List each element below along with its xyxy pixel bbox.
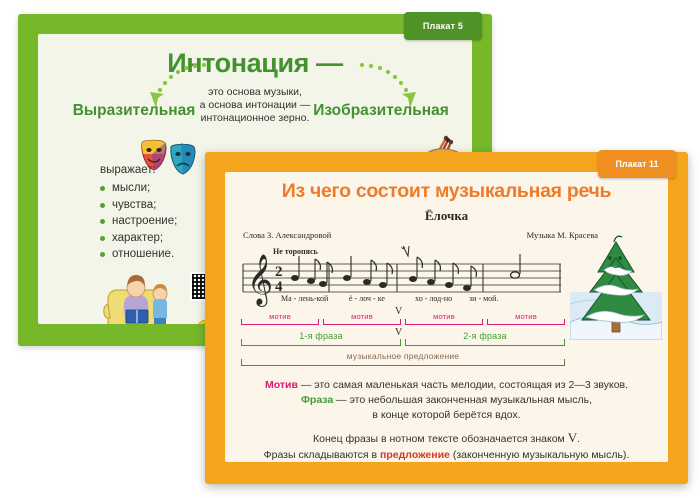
song-title: Ёлочка <box>225 208 668 224</box>
lyric-syllable: зи - мой. <box>469 294 498 303</box>
note-breath-sign: Конец фразы в нотном тексте обозначается… <box>225 430 668 447</box>
svg-text:2: 2 <box>275 264 283 280</box>
breath-mark-icon: V <box>395 306 402 317</box>
note-sentence-a: Фразы складываются в <box>264 449 380 461</box>
lyric-syllable: Ма - лень-кой <box>281 294 328 303</box>
lyric-syllable: ё - лоч - ке <box>349 294 385 303</box>
breath-mark-icon: V <box>568 430 577 445</box>
poster-musical-speech[interactable]: Плакат 11 Из чего состоит музыкальная ре… <box>205 152 688 484</box>
sentence-bracket-row: музыкальное предложение <box>237 351 567 370</box>
credit-words: Слова З. Александровой <box>243 230 331 240</box>
definition-phrase-line2: в конце которой берётся вдох. <box>225 408 668 423</box>
note-sentence: Фразы складываются в предложение (законч… <box>225 448 668 462</box>
poster-orange-paper: Из чего состоит музыкальная речь Ёлочка … <box>225 172 668 462</box>
label-expressive: Выразительная <box>60 102 208 120</box>
page-title-musical-speech: Из чего состоит музыкальная речь <box>225 180 668 203</box>
label-depictive: Изобразительная <box>300 102 462 120</box>
definition-phrase-text: — это небольшая законченная музыкальная … <box>333 394 592 406</box>
keyword-fraza: Фраза <box>301 394 333 406</box>
keyword-predlozhenie: предложение <box>380 449 450 461</box>
note-breath-sign-period: . <box>577 433 580 445</box>
phrase-bracket: 1-я фраза <box>241 331 401 348</box>
list-item: настроение; <box>98 213 177 230</box>
lyrics-row: Ма - лень-кой ё - лоч - ке хо - лод-но з… <box>237 294 567 306</box>
label-expresses: выражает: <box>100 164 156 176</box>
badge-poster-number-orange: Плакат 11 <box>598 150 676 178</box>
motif-bracket: мотив <box>241 312 319 327</box>
definition-motif-text: — это самая маленькая часть мелодии, сос… <box>298 379 628 391</box>
motif-bracket: мотив <box>405 312 483 327</box>
breath-mark-icon: V <box>395 327 402 338</box>
woman-reading-to-child-illustration <box>102 270 184 324</box>
list-item: чувства; <box>98 197 177 214</box>
list-item: отношение. <box>98 246 177 263</box>
tempo-marking: Не торопясь <box>273 247 319 256</box>
badge-poster-number-green: Плакат 5 <box>404 12 482 40</box>
note-sentence-b: (законченную музыкальную мысль). <box>450 449 629 461</box>
list-item: характер; <box>98 230 177 247</box>
expressive-list: мысли; чувства; настроение; характер; от… <box>98 180 177 263</box>
motif-bracket: мотив <box>323 312 401 327</box>
phrase-bracket: 2-я фраза <box>405 331 565 348</box>
lyric-syllable: хо - лод-но <box>415 294 452 303</box>
note-breath-sign-text: Конец фразы в нотном тексте обозначается… <box>313 433 568 445</box>
sentence-bracket: музыкальное предложение <box>241 351 565 368</box>
definition-motif: Мотив — это самая маленькая часть мелоди… <box>225 378 668 393</box>
svg-text:4: 4 <box>275 279 283 295</box>
definition-phrase: Фраза — это небольшая законченная музыка… <box>225 393 668 408</box>
snowy-fir-tree-illustration <box>570 230 662 340</box>
list-item: мысли; <box>98 180 177 197</box>
motif-bracket: мотив <box>487 312 565 327</box>
phrase-bracket-row: 1-я фраза 2-я фраза V <box>237 331 567 350</box>
keyword-motif: Мотив <box>265 379 298 391</box>
